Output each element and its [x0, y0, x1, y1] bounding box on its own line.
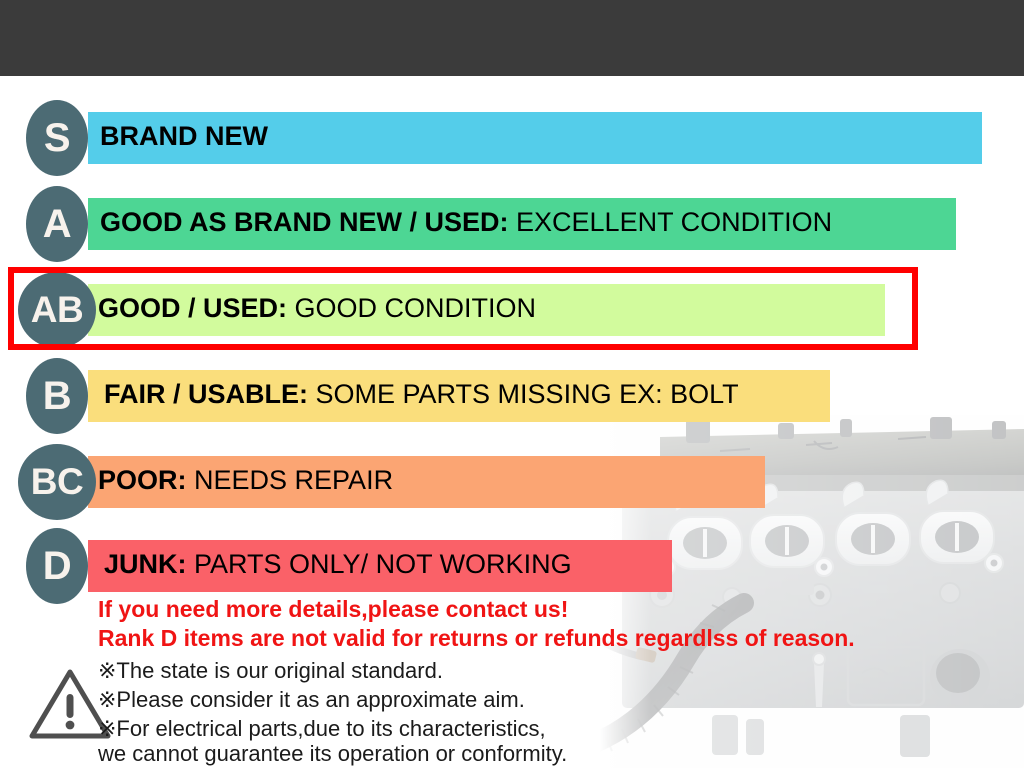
rank-normal-text: SOME PARTS MISSING EX: BOLT [308, 379, 739, 409]
rank-normal-text: PARTS ONLY/ NOT WORKING [187, 549, 572, 579]
rank-description-s: BRAND NEW [100, 119, 268, 153]
notice-no-guarantee: we cannot guarantee its operation or con… [98, 740, 567, 768]
rank-description-d: JUNK: PARTS ONLY/ NOT WORKING [104, 547, 572, 581]
rank-badge-a: A [26, 186, 88, 262]
rank-bold-text: FAIR / USABLE: [104, 379, 308, 409]
rank-description-ab: GOOD / USED: GOOD CONDITION [98, 291, 536, 325]
notice-approximate-aim: ※Please consider it as an approximate ai… [98, 686, 525, 714]
rank-normal-text: EXCELLENT CONDITION [509, 207, 833, 237]
rank-badge-ab: AB [18, 272, 96, 348]
rank-badge-label: S [44, 118, 70, 158]
rank-normal-text: GOOD CONDITION [287, 293, 536, 323]
rank-badge-s: S [26, 100, 88, 176]
rank-bold-text: JUNK: [104, 549, 187, 579]
rank-bold-text: POOR: [98, 465, 187, 495]
condition-chart-page: LEVEL OF ITEM'S CONDITION S BRAND NEW A … [0, 0, 1024, 768]
rank-bold-text: BRAND NEW [100, 121, 268, 151]
rank-badge-label: A [43, 204, 71, 244]
rank-badge-label: BC [31, 462, 83, 502]
rank-normal-text: NEEDS REPAIR [187, 465, 394, 495]
rank-badge-label: AB [31, 290, 83, 330]
rank-badge-bc: BC [18, 444, 96, 520]
notice-electrical-parts: ※For electrical parts,due to its charact… [98, 715, 546, 743]
rank-badge-label: B [43, 376, 71, 416]
notice-rank-d-no-returns: Rank D items are not valid for returns o… [98, 624, 855, 652]
rank-description-b: FAIR / USABLE: SOME PARTS MISSING EX: BO… [104, 377, 739, 411]
rank-bold-text: GOOD / USED: [98, 293, 287, 323]
rank-badge-b: B [26, 358, 88, 434]
notice-contact-us: If you need more details,please contact … [98, 595, 568, 623]
rank-bold-text: GOOD AS BRAND NEW / USED: [100, 207, 509, 237]
rank-description-bc: POOR: NEEDS REPAIR [98, 463, 393, 497]
rank-badge-d: D [26, 528, 88, 604]
header-bar [0, 0, 1024, 76]
notice-original-standard: ※The state is our original standard. [98, 657, 443, 685]
rank-description-a: GOOD AS BRAND NEW / USED: EXCELLENT COND… [100, 205, 832, 239]
rank-badge-label: D [43, 546, 71, 586]
